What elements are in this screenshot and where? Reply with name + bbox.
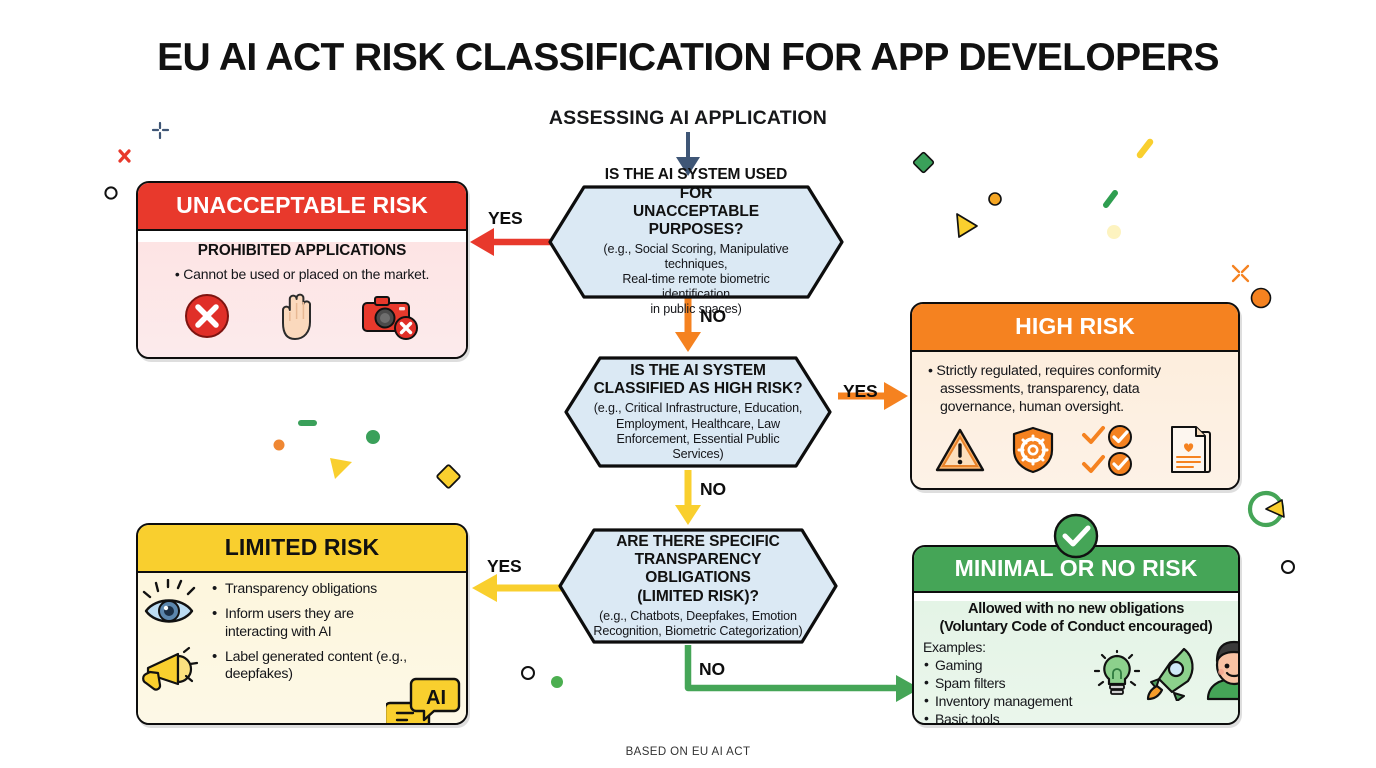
person-avatar-icon <box>1204 639 1240 701</box>
card-heading: LIMITED RISK <box>138 525 466 573</box>
card-body: PROHIBITED APPLICATIONS • Cannot be used… <box>138 242 466 359</box>
yellow-triangle-icon <box>957 214 977 237</box>
card-icon-row <box>1094 639 1240 701</box>
pale-dot-icon <box>1107 225 1121 239</box>
list-item: Transparency obligations <box>212 581 466 598</box>
decision-high-risk[interactable]: IS THE AI SYSTEM CLASSIFIED AS HIGH RISK… <box>562 354 834 470</box>
edge-label-d1-yes: YES <box>488 208 522 229</box>
card-heading: HIGH RISK <box>912 304 1238 352</box>
card-line-2: (Voluntary Code of Conduct encouraged) <box>914 619 1238 637</box>
green-ring-icon <box>1250 493 1282 525</box>
edge-label-d3-no: NO <box>699 659 725 680</box>
document-heart-icon <box>1166 424 1216 476</box>
footer-note: BASED ON EU AI ACT <box>0 746 1376 758</box>
yellow-triangle2-icon <box>330 458 352 479</box>
list-item: Label generated content (e.g., deepfakes… <box>212 649 408 684</box>
list-item: Spam filters <box>923 675 1094 693</box>
decision-question: IS THE AI SYSTEM CLASSIFIED AS HIGH RISK… <box>594 362 803 398</box>
green-diamond-icon <box>913 152 934 173</box>
card-limited-risk[interactable]: LIMITED RISK <box>136 523 468 725</box>
yellow-dash-icon <box>1140 142 1150 155</box>
card-body: • Strictly regulated, requires conformit… <box>912 352 1238 490</box>
card-subheading: PROHIBITED APPLICATIONS <box>138 242 466 260</box>
list-item: Gaming <box>923 657 1094 675</box>
decision-question: ARE THERE SPECIFIC TRANSPARENCY OBLIGATI… <box>584 533 812 606</box>
decision-examples: (e.g., Critical Infrastructure, Educatio… <box>592 401 804 461</box>
decision-examples: (e.g., Social Scoring, Manipulative tech… <box>588 242 804 318</box>
small-orange-dot-icon <box>274 440 285 451</box>
stop-hand-icon <box>273 290 319 342</box>
yellow-wedge-icon <box>1266 500 1284 517</box>
card-icon-row <box>138 290 466 342</box>
megaphone-icon <box>140 646 206 700</box>
card-bullet: • Cannot be used or placed on the market… <box>138 266 466 282</box>
edge-label-d2-no: NO <box>700 479 726 500</box>
decision-transparency-obligations[interactable]: ARE THERE SPECIFIC TRANSPARENCY OBLIGATI… <box>556 526 840 646</box>
decision-unacceptable-purposes[interactable]: IS THE AI SYSTEM USED FOR UNACCEPTABLE P… <box>546 183 846 301</box>
circle-outline-icon <box>105 187 116 198</box>
card-icon-row <box>912 424 1238 476</box>
edge-label-d3-yes: YES <box>487 556 521 577</box>
card-examples-list: Examples: Gaming Spam filters Inventory … <box>914 639 1094 725</box>
card-high-risk[interactable]: HIGH RISK • Strictly regulated, requires… <box>910 302 1240 490</box>
double-check-icon <box>1080 424 1142 476</box>
green-dot2-icon <box>551 676 563 688</box>
check-circle-badge-icon <box>1052 512 1100 560</box>
card-bullet: • Strictly regulated, requires conformit… <box>912 352 1238 417</box>
card-minimal-or-no-risk[interactable]: MINIMAL OR NO RISK Allowed with no new o… <box>912 545 1240 725</box>
camera-blocked-icon <box>361 292 421 340</box>
decision-question: IS THE AI SYSTEM USED FOR UNACCEPTABLE P… <box>588 166 804 239</box>
card-unacceptable-risk[interactable]: UNACCEPTABLE RISK PROHIBITED APPLICATION… <box>136 181 468 359</box>
decision-examples: (e.g., Chatbots, Deepfakes, Emotion Reco… <box>593 609 802 639</box>
list-item: Basic tools <box>923 711 1094 725</box>
circle-outline3-icon <box>1282 561 1294 573</box>
page-title: EU AI ACT RISK CLASSIFICATION FOR APP DE… <box>0 36 1376 80</box>
green-dot-icon <box>366 430 380 444</box>
edge-label-d2-yes: YES <box>843 381 877 402</box>
sparkle-icon <box>1233 266 1248 281</box>
card-line-1: Allowed with no new obligations <box>914 601 1238 619</box>
list-item: Inventory management <box>923 693 1094 711</box>
card-bullet-list: Transparency obligations Inform users th… <box>212 573 466 692</box>
infographic-canvas: EU AI ACT RISK CLASSIFICATION FOR APP DE… <box>0 0 1376 768</box>
orange-circle-icon <box>1252 289 1271 308</box>
eye-icon <box>142 579 208 635</box>
rocket-icon <box>1142 645 1202 701</box>
lightbulb-icon <box>1094 649 1140 701</box>
warning-triangle-icon <box>934 426 986 474</box>
green-dash-icon <box>1106 193 1115 205</box>
edge-d2-no-d3 <box>675 470 701 525</box>
list-item: Inform users they are interacting with A… <box>212 606 390 641</box>
edge-label-d1-no: NO <box>700 306 726 327</box>
yellow-diamond-icon <box>436 464 460 488</box>
ai-chat-bubble-icon: AI <box>386 675 462 725</box>
ai-badge-text: AI <box>426 687 446 709</box>
orange-dot-icon <box>989 193 1001 205</box>
circle-outline2-icon <box>522 667 534 679</box>
shield-gear-icon <box>1010 425 1056 475</box>
start-node-label: ASSESSING AI APPLICATION <box>0 107 1376 130</box>
x-mark-icon <box>120 151 129 161</box>
edge-d1-yes-unacceptable <box>470 228 550 256</box>
x-circle-icon <box>183 292 231 340</box>
card-heading: UNACCEPTABLE RISK <box>138 183 466 231</box>
card-body: Transparency obligations Inform users th… <box>138 573 466 725</box>
card-icon-column <box>138 573 212 705</box>
edge-d3-yes-limited <box>472 574 562 602</box>
examples-label: Examples: <box>923 639 1094 657</box>
card-body: Allowed with no new obligations (Volunta… <box>914 601 1238 725</box>
